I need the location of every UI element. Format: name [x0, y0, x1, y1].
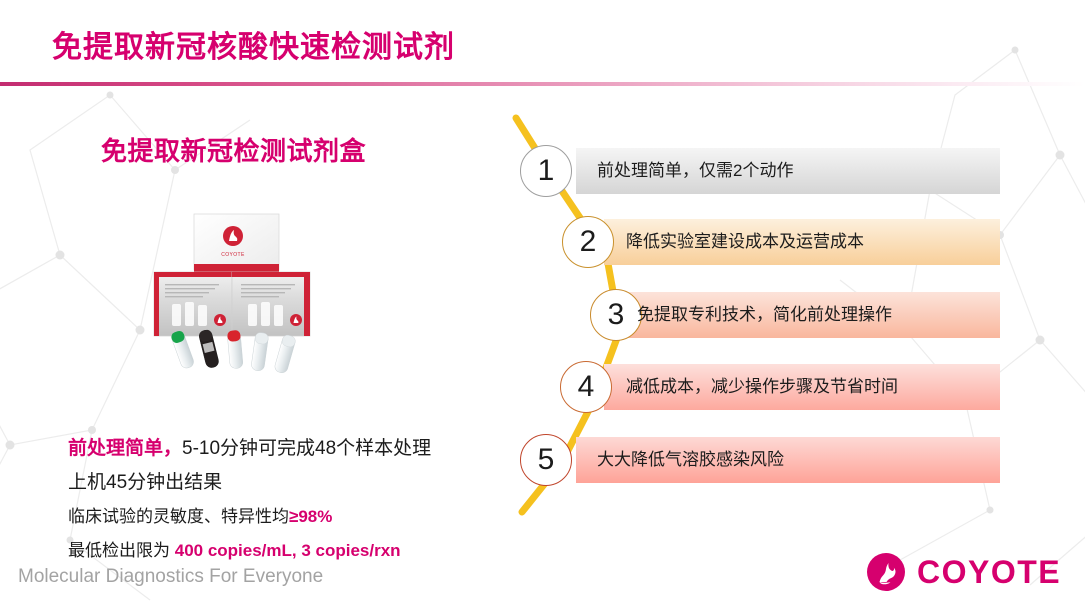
step-label-3: 免提取专利技术，简化前处理操作 — [637, 292, 892, 338]
step-label-5: 大大降低气溶胶感染风险 — [597, 437, 784, 483]
footer-tagline: Molecular Diagnostics For Everyone — [18, 566, 323, 588]
coyote-howling-icon — [866, 552, 906, 592]
step-number-2: 2 — [562, 216, 614, 268]
step-number-4: 4 — [560, 361, 612, 413]
coyote-logo: COYOTE — [866, 551, 1061, 593]
step-label-2: 降低实验室建设成本及运营成本 — [626, 219, 864, 265]
slide-canvas: 免提取新冠核酸快速检测试剂 免提取新冠检测试剂盒 COYOT — [0, 0, 1085, 609]
step-number-1: 1 — [520, 145, 572, 197]
coyote-wordmark: COYOTE — [917, 556, 1061, 588]
step-number-3: 3 — [590, 289, 642, 341]
step-number-5: 5 — [520, 434, 572, 486]
step-label-4: 减低成本，减少操作步骤及节省时间 — [626, 364, 898, 410]
step-label-1: 前处理简单，仅需2个动作 — [597, 148, 793, 194]
steps-list: 1前处理简单，仅需2个动作2降低实验室建设成本及运营成本3免提取专利技术，简化前… — [0, 0, 1085, 609]
